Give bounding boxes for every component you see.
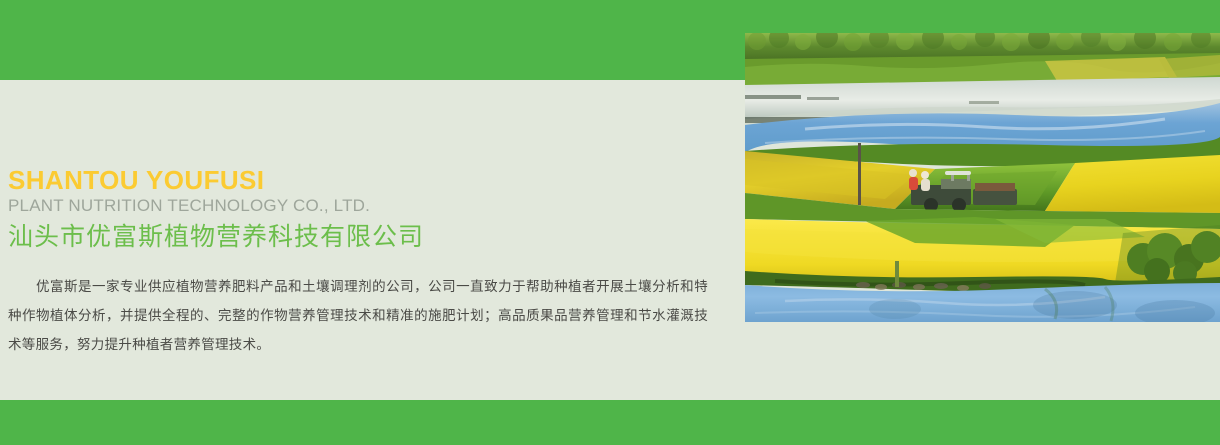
company-name-english: SHANTOU YOUFUSI	[8, 167, 264, 193]
company-description-paragraph: 优富斯是一家专业供应植物营养肥料产品和土壤调理剂的公司，公司一直致力于帮助种植者…	[8, 272, 708, 359]
company-intro-section: SHANTOU YOUFUSI PLANT NUTRITION TECHNOLO…	[0, 80, 745, 400]
bottom-green-banner	[0, 400, 1220, 445]
rice-paddy-field-illustration	[745, 33, 1220, 322]
company-name-chinese: 汕头市优富斯植物营养科技有限公司	[8, 222, 424, 253]
company-subtitle-english: PLANT NUTRITION TECHNOLOGY CO., LTD.	[8, 197, 370, 214]
page-root: SHANTOU YOUFUSI PLANT NUTRITION TECHNOLO…	[0, 0, 1220, 445]
hero-photo	[745, 33, 1220, 322]
